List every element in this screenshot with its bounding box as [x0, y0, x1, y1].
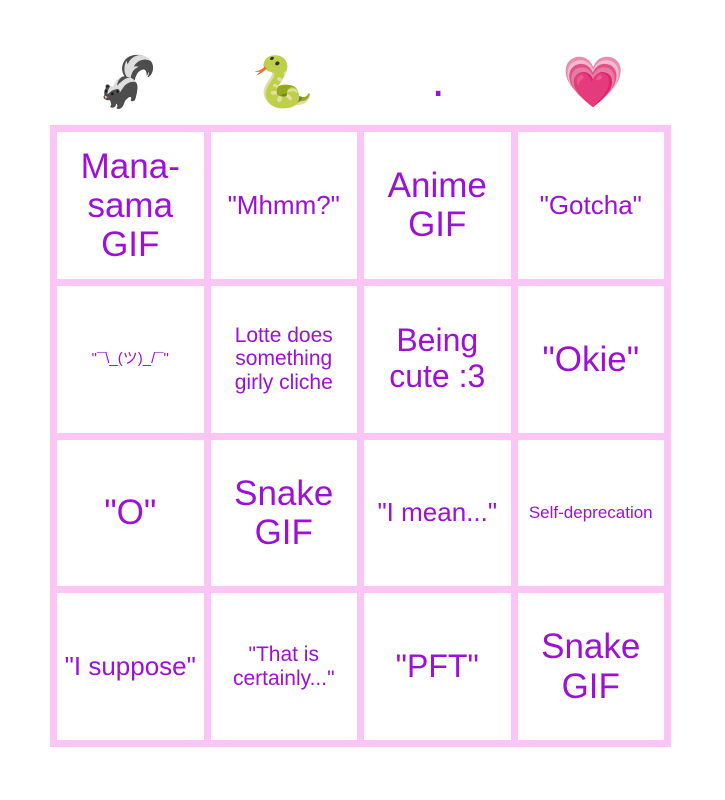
bingo-cell-label: "¯\_(ツ)_/¯": [63, 351, 198, 368]
bingo-cell-r4c2[interactable]: "That is certainly...": [211, 593, 358, 740]
bingo-card: 🦨 🐍 . 💗 Mana-sama GIF "Mhmm?" Anime GIF …: [0, 0, 725, 800]
bingo-cell-label: Being cute :3: [370, 323, 505, 395]
period-dot-icon: .: [431, 67, 444, 96]
bingo-grid: Mana-sama GIF "Mhmm?" Anime GIF "Gotcha"…: [50, 125, 671, 747]
bingo-cell-r1c3[interactable]: Anime GIF: [364, 132, 511, 279]
header-cell-3: .: [361, 38, 516, 125]
bingo-cell-label: Self-deprecation: [524, 503, 659, 522]
bingo-cell-r1c4[interactable]: "Gotcha": [518, 132, 665, 279]
pink-heart-icon: 💗: [562, 57, 624, 107]
bingo-cell-r1c2[interactable]: "Mhmm?": [211, 132, 358, 279]
bingo-cell-label: "Okie": [524, 340, 659, 379]
bingo-cell-label: Mana-sama GIF: [63, 147, 198, 265]
header-cell-1: 🦨: [50, 38, 205, 125]
snake-icon: 🐍: [252, 57, 314, 107]
bingo-cell-label: Lotte does something girly cliche: [217, 324, 352, 395]
bingo-cell-label: "O": [63, 493, 198, 532]
bingo-cell-r2c2[interactable]: Lotte does something girly cliche: [211, 286, 358, 433]
bingo-cell-r2c3[interactable]: Being cute :3: [364, 286, 511, 433]
bingo-cell-label: "I suppose": [63, 652, 198, 681]
bingo-cell-label: "I mean...": [370, 498, 505, 527]
bingo-cell-label: Snake GIF: [217, 474, 352, 552]
bingo-cell-label: "That is certainly...": [217, 643, 352, 690]
bingo-cell-label: "Mhmm?": [217, 191, 352, 220]
bingo-cell-label: "PFT": [370, 649, 505, 685]
header-cell-4: 💗: [516, 38, 671, 125]
bingo-cell-r4c3[interactable]: "PFT": [364, 593, 511, 740]
bingo-cell-label: Snake GIF: [524, 627, 659, 705]
bingo-cell-r3c2[interactable]: Snake GIF: [211, 440, 358, 587]
bingo-cell-r3c4[interactable]: Self-deprecation: [518, 440, 665, 587]
bingo-cell-label: "Gotcha": [524, 191, 659, 220]
bingo-cell-r2c1[interactable]: "¯\_(ツ)_/¯": [57, 286, 204, 433]
bingo-cell-r3c3[interactable]: "I mean...": [364, 440, 511, 587]
bingo-cell-r1c1[interactable]: Mana-sama GIF: [57, 132, 204, 279]
skunk-icon: 🦨: [96, 57, 158, 107]
bingo-cell-r4c1[interactable]: "I suppose": [57, 593, 204, 740]
bingo-cell-r3c1[interactable]: "O": [57, 440, 204, 587]
bingo-header-row: 🦨 🐍 . 💗: [50, 38, 671, 125]
bingo-cell-r2c4[interactable]: "Okie": [518, 286, 665, 433]
header-cell-2: 🐍: [205, 38, 360, 125]
bingo-cell-label: Anime GIF: [370, 166, 505, 244]
bingo-cell-r4c4[interactable]: Snake GIF: [518, 593, 665, 740]
